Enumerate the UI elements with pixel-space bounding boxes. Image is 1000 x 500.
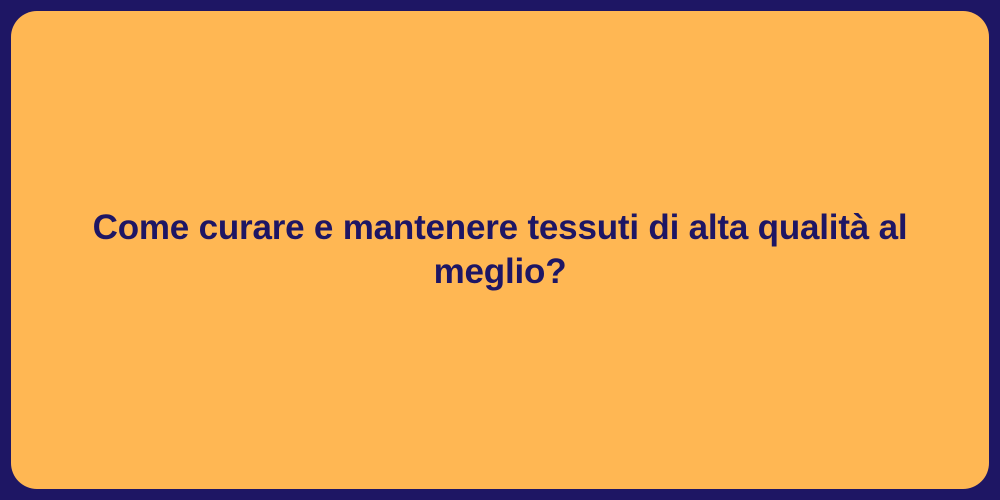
page-title: Come curare e mantenere tessuti di alta … <box>51 206 949 294</box>
headline-card: Come curare e mantenere tessuti di alta … <box>11 11 989 489</box>
page-background: Come curare e mantenere tessuti di alta … <box>0 0 1000 500</box>
